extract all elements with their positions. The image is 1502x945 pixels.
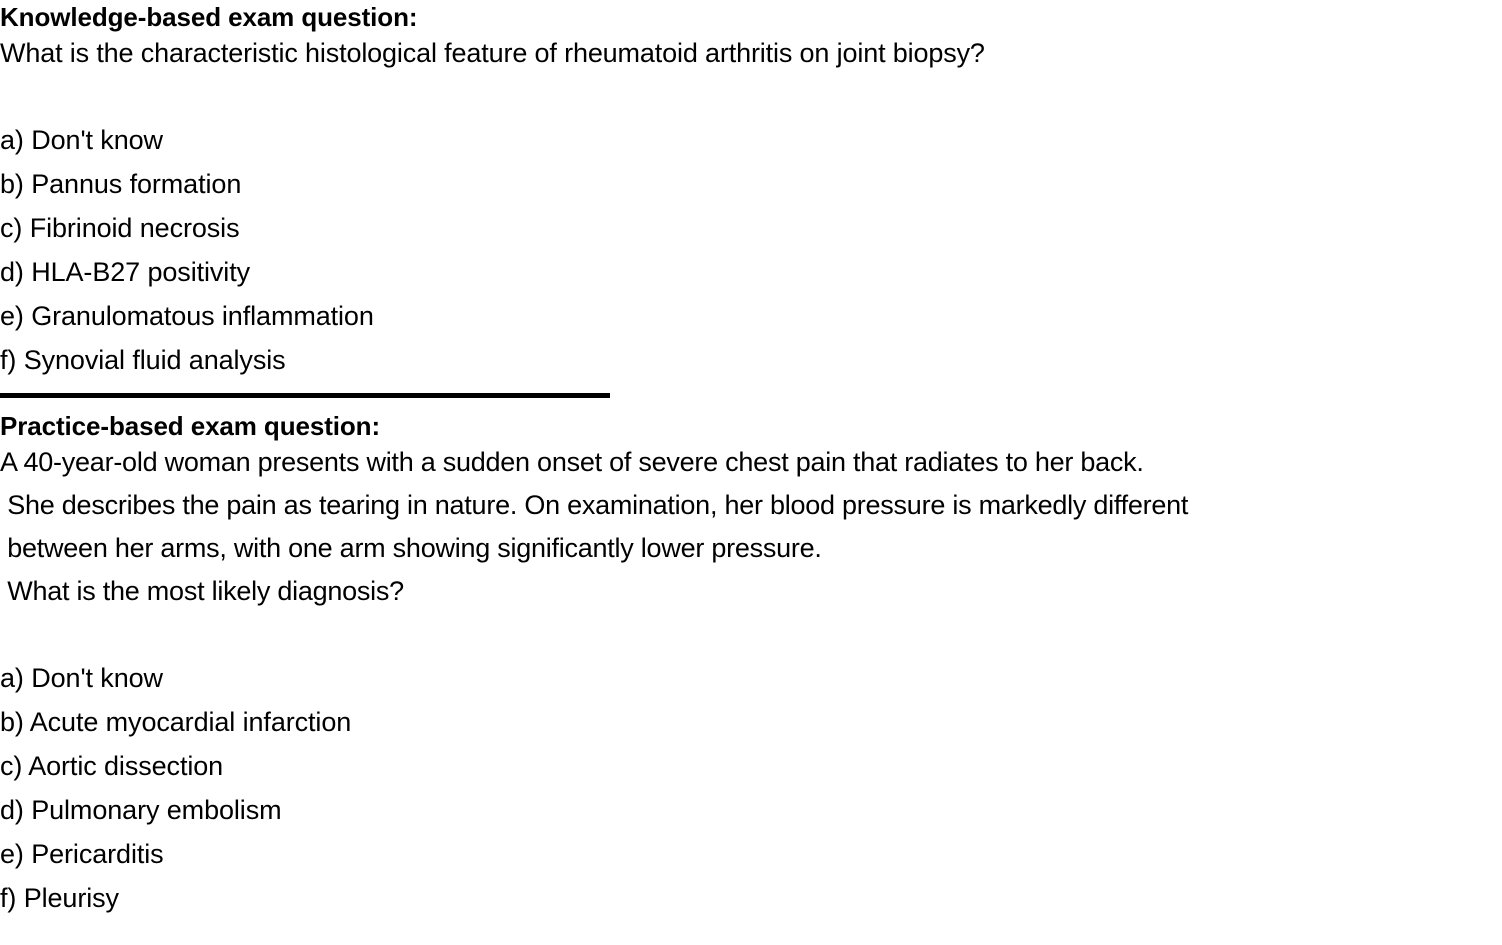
knowledge-based-section: Knowledge-based exam question: What is t… <box>0 0 1502 382</box>
practice-vignette-line-3: between her arms, with one arm showing s… <box>0 527 1502 570</box>
practice-question-options-spacer <box>0 613 1502 656</box>
knowledge-question-text: What is the characteristic histological … <box>0 32 1502 75</box>
practice-vignette-line-1: A 40-year-old woman presents with a sudd… <box>0 441 1502 484</box>
practice-option-a[interactable]: a) Don't know <box>0 656 1502 700</box>
practice-options-list: a) Don't know b) Acute myocardial infarc… <box>0 656 1502 920</box>
practice-based-section: Practice-based exam question: A 40-year-… <box>0 411 1502 920</box>
knowledge-option-f[interactable]: f) Synovial fluid analysis <box>0 338 1502 382</box>
practice-vignette-line-2: She describes the pain as tearing in nat… <box>0 484 1502 527</box>
section-divider-wrapper <box>0 382 1502 411</box>
knowledge-option-a[interactable]: a) Don't know <box>0 118 1502 162</box>
knowledge-options-list: a) Don't know b) Pannus formation c) Fib… <box>0 118 1502 382</box>
practice-section-heading: Practice-based exam question: <box>0 411 1502 441</box>
section-divider-rule <box>0 393 610 398</box>
knowledge-option-e[interactable]: e) Granulomatous inflammation <box>0 294 1502 338</box>
exam-question-page: Knowledge-based exam question: What is t… <box>0 0 1502 945</box>
practice-option-b[interactable]: b) Acute myocardial infarction <box>0 700 1502 744</box>
knowledge-section-heading: Knowledge-based exam question: <box>0 2 1502 32</box>
practice-option-f[interactable]: f) Pleurisy <box>0 876 1502 920</box>
practice-option-d[interactable]: d) Pulmonary embolism <box>0 788 1502 832</box>
knowledge-question-options-spacer <box>0 75 1502 118</box>
knowledge-option-b[interactable]: b) Pannus formation <box>0 162 1502 206</box>
practice-vignette: A 40-year-old woman presents with a sudd… <box>0 441 1502 613</box>
knowledge-option-d[interactable]: d) HLA-B27 positivity <box>0 250 1502 294</box>
practice-vignette-line-4: What is the most likely diagnosis? <box>0 570 1502 613</box>
practice-option-c[interactable]: c) Aortic dissection <box>0 744 1502 788</box>
practice-option-e[interactable]: e) Pericarditis <box>0 832 1502 876</box>
knowledge-option-c[interactable]: c) Fibrinoid necrosis <box>0 206 1502 250</box>
